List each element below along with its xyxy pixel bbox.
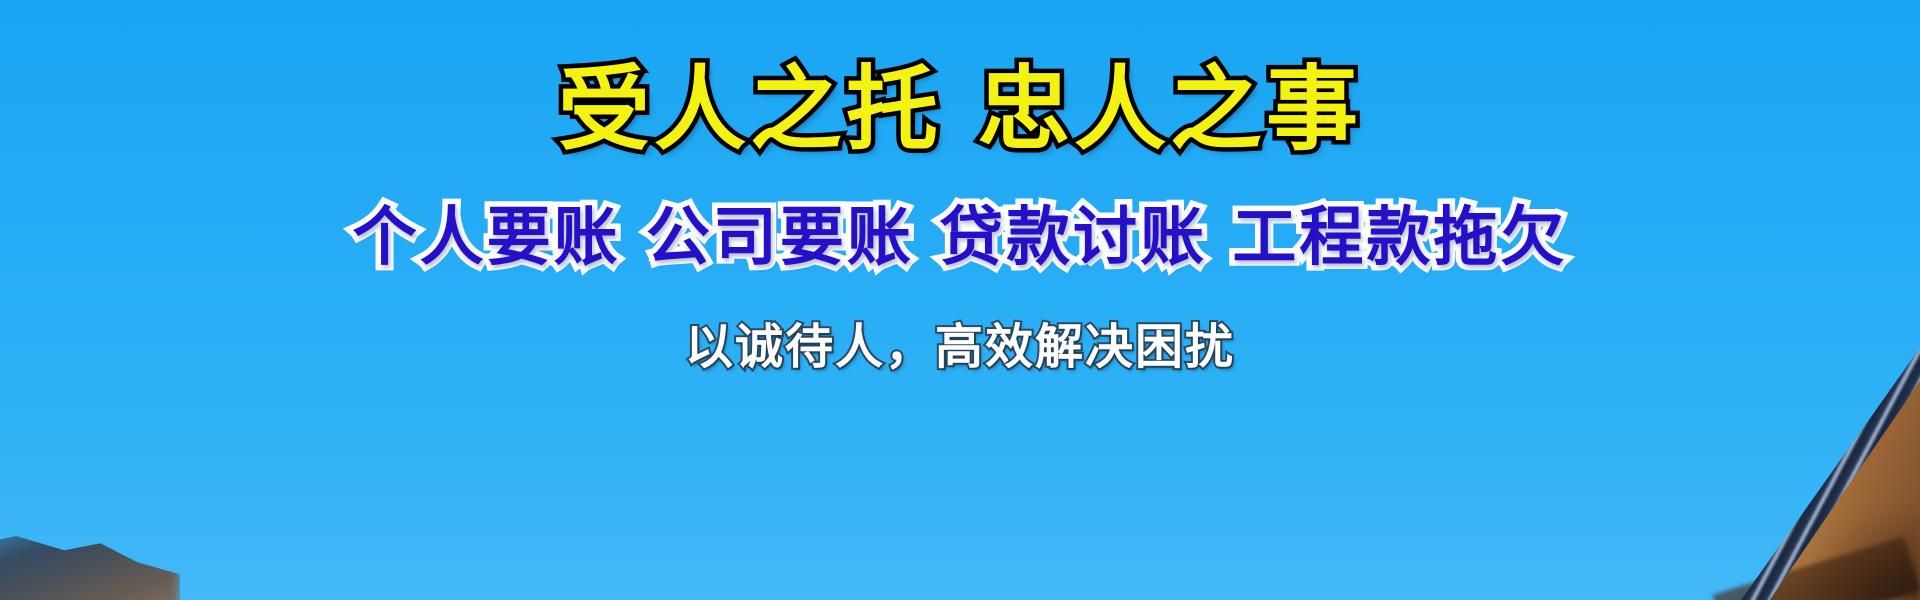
promotional-banner: 受人之托 忠人之事 个人要账 公司要账 贷款讨账 工程款拖欠 以诚待人，高效解决…: [0, 0, 1920, 600]
banner-text-stack: 受人之托 忠人之事 个人要账 公司要账 贷款讨账 工程款拖欠 以诚待人，高效解决…: [0, 0, 1920, 600]
banner-headline: 受人之托 忠人之事: [558, 62, 1362, 159]
banner-services-line: 个人要账 公司要账 贷款讨账 工程款拖欠: [353, 203, 1568, 273]
banner-tagline: 以诚待人，高效解决困扰: [685, 321, 1235, 374]
